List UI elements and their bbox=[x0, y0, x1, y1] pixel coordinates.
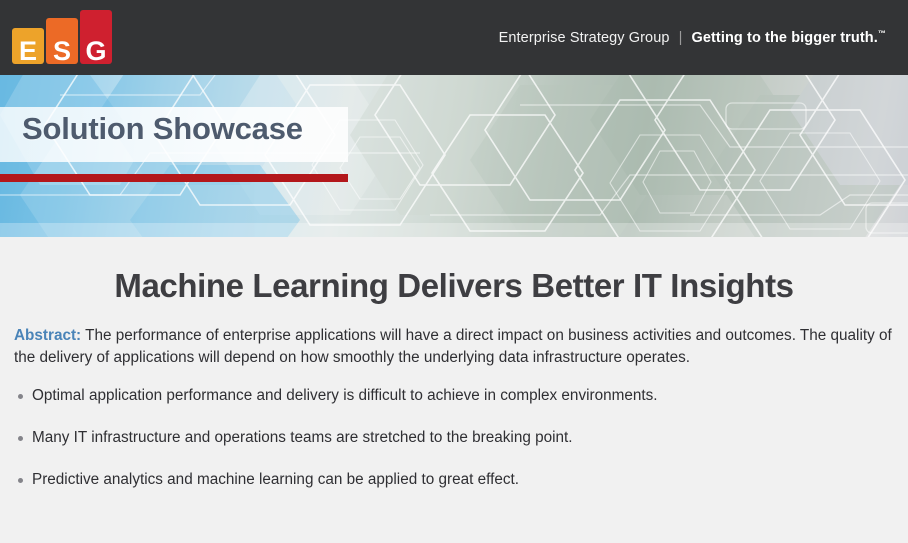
document-content: Machine Learning Delivers Better IT Insi… bbox=[0, 237, 908, 543]
logo-letter-s: S bbox=[53, 38, 71, 65]
showcase-red-rule bbox=[0, 174, 348, 182]
list-item: Predictive analytics and machine learnin… bbox=[0, 470, 908, 490]
logo-letter-g: G bbox=[85, 38, 106, 65]
abstract-paragraph: Abstract: The performance of enterprise … bbox=[14, 325, 894, 369]
list-item: Optimal application performance and deli… bbox=[0, 386, 908, 406]
list-item-label: Optimal application performance and deli… bbox=[32, 387, 658, 404]
bullet-dot-icon bbox=[18, 394, 23, 399]
esg-logo[interactable]: E S G bbox=[12, 12, 112, 64]
solution-showcase-label: Solution Showcase bbox=[22, 111, 303, 147]
bullet-dot-icon bbox=[18, 478, 23, 483]
hero-banner: Solution Showcase bbox=[0, 75, 908, 237]
abstract-text: The performance of enterprise applicatio… bbox=[14, 327, 892, 366]
list-item: Many IT infrastructure and operations te… bbox=[0, 428, 908, 448]
trademark-symbol: ™ bbox=[878, 29, 886, 38]
tagline-slogan: Getting to the bigger truth. bbox=[691, 30, 877, 46]
document-page: E S G Enterprise Strategy Group | Gettin… bbox=[0, 0, 908, 543]
tagline-company: Enterprise Strategy Group bbox=[499, 30, 670, 46]
site-header: E S G Enterprise Strategy Group | Gettin… bbox=[0, 0, 908, 75]
bullet-dot-icon bbox=[18, 436, 23, 441]
header-tagline: Enterprise Strategy Group | Getting to t… bbox=[499, 30, 886, 46]
logo-bar-g: G bbox=[80, 10, 112, 64]
page-title: Machine Learning Delivers Better IT Insi… bbox=[0, 237, 908, 305]
logo-letter-e: E bbox=[19, 38, 37, 65]
logo-bar-e: E bbox=[12, 28, 44, 64]
logo-bar-s: S bbox=[46, 18, 78, 64]
tagline-separator: | bbox=[679, 30, 683, 46]
list-item-label: Predictive analytics and machine learnin… bbox=[32, 471, 519, 488]
list-item-label: Many IT infrastructure and operations te… bbox=[32, 429, 573, 446]
key-points-list: Optimal application performance and deli… bbox=[0, 386, 908, 490]
abstract-label: Abstract: bbox=[14, 327, 81, 344]
